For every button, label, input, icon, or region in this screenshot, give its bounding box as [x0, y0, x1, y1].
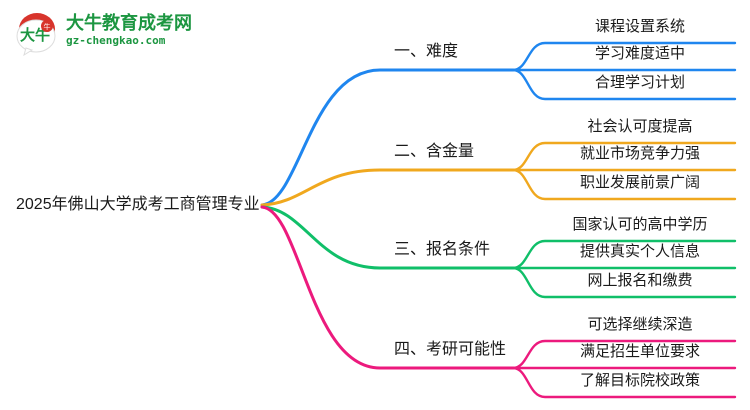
mindmap-canvas: 大牛 牛 大牛教育成考网 gz-chengkao.com 2025年佛山大学成考…: [0, 0, 750, 410]
leaf-node-3-1[interactable]: 国家认可的高中学历: [545, 212, 735, 238]
leaf-node-3-1-label: 国家认可的高中学历: [572, 212, 707, 238]
leaf-node-1-1-label: 课程设置系统: [595, 14, 685, 40]
branch-node-1-label: 一、难度: [394, 38, 458, 66]
branch-node-3[interactable]: 三、报名条件: [394, 236, 490, 264]
leaf-node-3-3-label: 网上报名和缴费: [587, 268, 692, 294]
leaf-node-4-2[interactable]: 满足招生单位要求: [545, 339, 735, 365]
daniu-mark-icon: 大牛 牛: [14, 10, 60, 56]
logo-text-group: 大牛教育成考网 gz-chengkao.com: [66, 12, 196, 48]
site-logo[interactable]: 大牛 牛 大牛教育成考网 gz-chengkao.com: [14, 8, 194, 58]
leaf-node-2-1-label: 社会认可度提高: [587, 114, 692, 140]
leaf-node-4-1-label: 可选择继续深造: [587, 312, 692, 338]
logo-domain-text: gz-chengkao.com: [66, 34, 196, 48]
branch-node-4-label: 四、考研可能性: [394, 336, 506, 364]
branch-node-1[interactable]: 一、难度: [394, 38, 458, 66]
branch-node-2[interactable]: 二、含金量: [394, 138, 474, 166]
logo-chinese-text: 大牛教育成考网: [66, 12, 196, 34]
trunk-branch-1: [262, 70, 513, 205]
branch-node-2-label: 二、含金量: [394, 138, 474, 166]
root-node-label: 2025年佛山大学成考工商管理专业: [16, 192, 260, 218]
trunk-branch-2: [262, 170, 513, 205]
leaf-node-1-2[interactable]: 学习难度适中: [545, 41, 735, 67]
leaf-node-1-3[interactable]: 合理学习计划: [545, 70, 735, 96]
leaf-node-2-1[interactable]: 社会认可度提高: [545, 114, 735, 140]
root-node[interactable]: 2025年佛山大学成考工商管理专业: [16, 192, 260, 218]
leaf-node-3-2[interactable]: 提供真实个人信息: [545, 239, 735, 265]
leaf-node-1-2-label: 学习难度适中: [595, 41, 685, 67]
svg-text:牛: 牛: [44, 22, 51, 31]
leaf-node-3-3[interactable]: 网上报名和缴费: [545, 268, 735, 294]
leaf-node-2-2[interactable]: 就业市场竞争力强: [545, 141, 735, 167]
leaf-node-4-3-label: 了解目标院校政策: [580, 368, 700, 394]
leaf-node-2-2-label: 就业市场竞争力强: [580, 141, 700, 167]
leaf-node-4-3[interactable]: 了解目标院校政策: [545, 368, 735, 394]
leaf-node-4-1[interactable]: 可选择继续深造: [545, 312, 735, 338]
leaf-node-4-2-label: 满足招生单位要求: [580, 339, 700, 365]
leaf-node-3-2-label: 提供真实个人信息: [580, 239, 700, 265]
leaf-node-2-3-label: 职业发展前景广阔: [580, 170, 700, 196]
branch-node-4[interactable]: 四、考研可能性: [394, 336, 506, 364]
leaf-node-1-1[interactable]: 课程设置系统: [545, 14, 735, 40]
leaf-node-2-3[interactable]: 职业发展前景广阔: [545, 170, 735, 196]
branch-node-3-label: 三、报名条件: [394, 236, 490, 264]
leaf-node-1-3-label: 合理学习计划: [595, 70, 685, 96]
